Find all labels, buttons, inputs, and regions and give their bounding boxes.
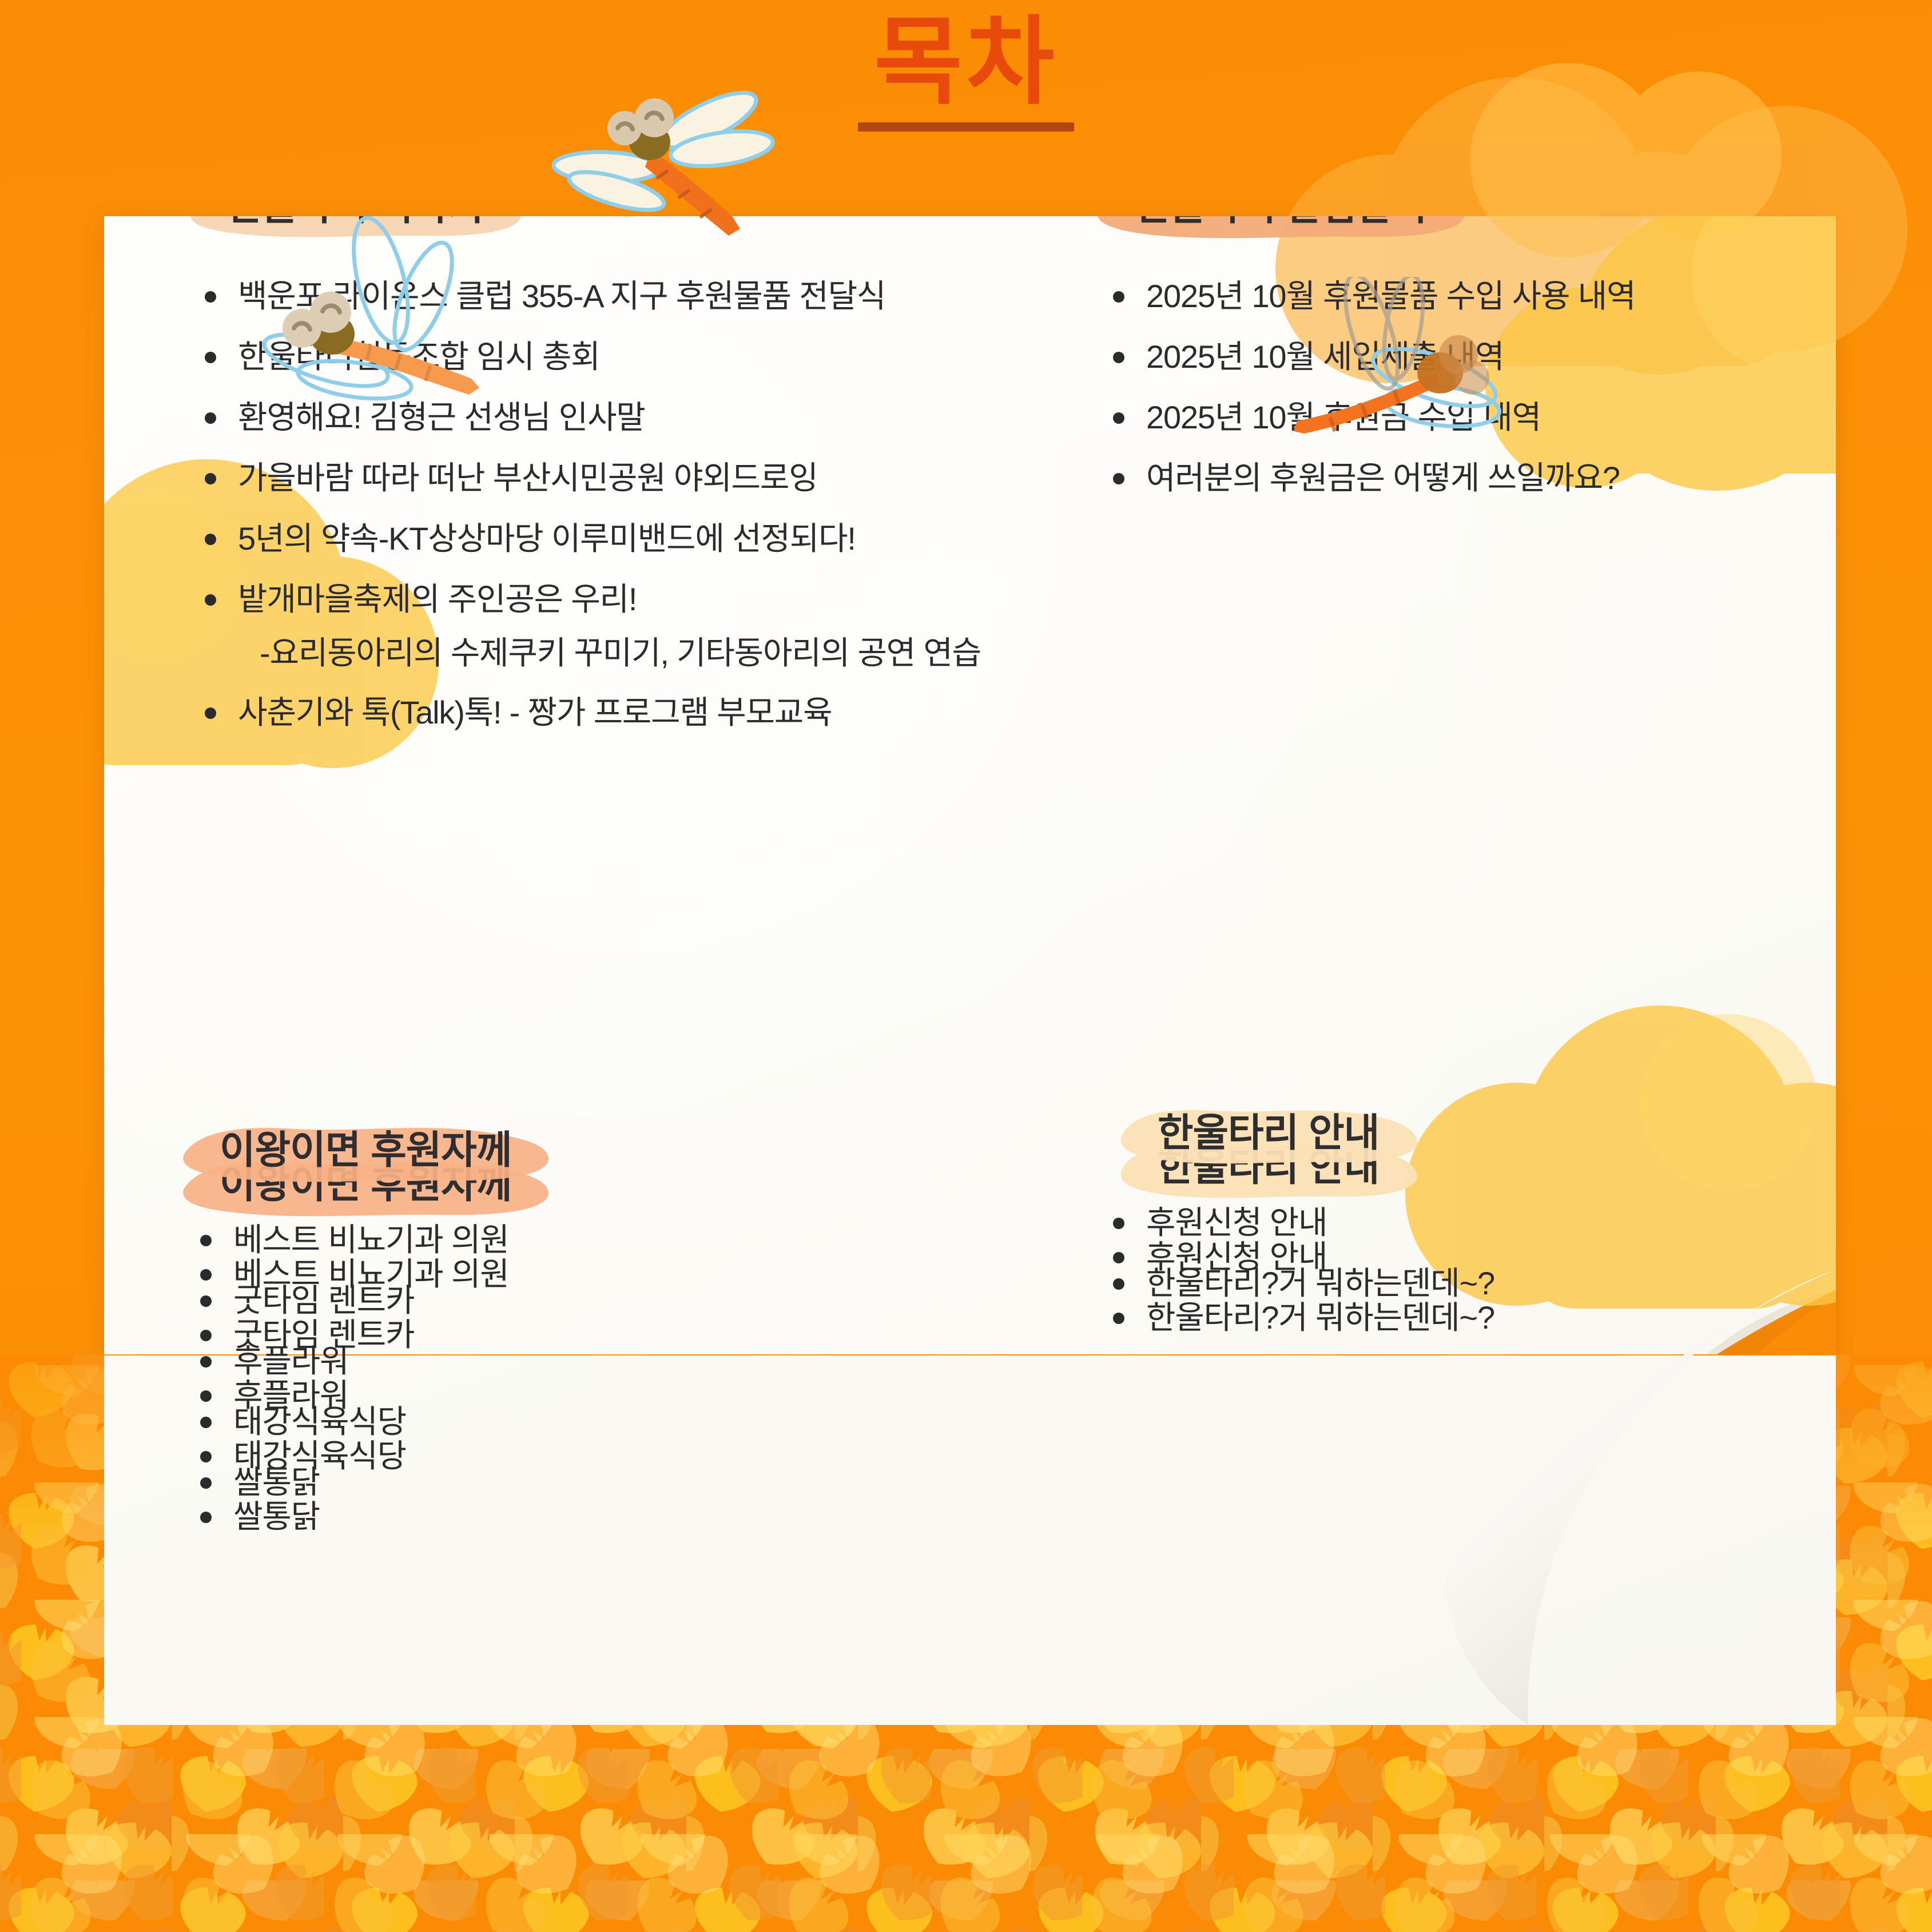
section-hanultari-story: 한울타리 이야기 백운포 라이온스 클럽 355-A 지구 후원물품 전달식 한…	[104, 216, 979, 754]
section-title: 이왕이면 후원자께	[220, 1129, 511, 1172]
list-item-label: 2025년 10월 후원물품 수입 사용 내역	[1146, 278, 1635, 314]
list-item-label: 사춘기와 톡(Talk)톡! - 짱가 프로그램 부모교육	[238, 694, 832, 730]
list-item[interactable]: 사춘기와 톡(Talk)톡! - 짱가 프로그램 부모교육	[200, 694, 979, 732]
bullet-dot	[205, 707, 216, 719]
list-item[interactable]: 가을바람 따라 떠난 부산시민공원 야외드로잉	[200, 459, 979, 497]
list-item-label: 후플라워	[233, 1343, 348, 1379]
bullet-dot	[1113, 1278, 1124, 1290]
list-item[interactable]: 태강식육식당	[196, 1403, 773, 1441]
section-title: 한울타리 살림살이	[1135, 216, 1426, 228]
bullet-dot	[1113, 352, 1124, 363]
newsletter-toc-page: 한울타리 이야기 백운포 라이온스 클럽 355-A 지구 후원물품 전달식 한…	[0, 0, 1932, 1932]
list-item-label: 가을바람 따라 떠난 부산시민공원 야외드로잉	[238, 460, 818, 496]
bullet-dot	[205, 412, 216, 424]
bullet-dot	[205, 534, 216, 545]
list-item-label: 태강식육식당	[233, 1404, 406, 1440]
list-item[interactable]: 베스트 비뇨기과 의원	[196, 1221, 773, 1259]
list-item-label: 여러분의 후원금은 어떻게 쓰일까요?	[1146, 460, 1620, 496]
title-underline	[858, 122, 1074, 132]
list-item-label: 2025년 10월 후원금 수입 내역	[1146, 399, 1541, 435]
title-block: 목차	[0, 11, 1932, 132]
list-item-label: 굿타임 렌트카	[233, 1282, 414, 1318]
list-item[interactable]: 5년의 약속-KT상상마당 이루미밴드에 선정되다!	[200, 520, 979, 558]
section-item-list-info-dup: 후원신청 안내 한울타리?거 뭐하는덴데~?	[1108, 1204, 1751, 1302]
bullet-dot	[1113, 412, 1124, 424]
list-item-label: 5년의 약속-KT상상마당 이루미밴드에 선정되다!	[238, 520, 856, 556]
list-item[interactable]: 2025년 10월 후원물품 수입 사용 내역	[1108, 277, 1831, 315]
list-item[interactable]: 여러분의 후원금은 어떻게 쓰일까요?	[1108, 459, 1831, 497]
list-item-label: 2025년 10월 세입세출 내역	[1146, 339, 1504, 375]
bullet-dot	[200, 1356, 212, 1367]
list-item[interactable]: 후플라워	[196, 1342, 773, 1380]
bullet-dot	[205, 291, 216, 303]
list-item[interactable]: 2025년 10월 세입세출 내역	[1108, 338, 1831, 376]
list-item-label: 쌀통닭	[233, 1464, 320, 1500]
section-title: 한울타리 이야기	[226, 216, 483, 228]
bullet-dot	[205, 594, 216, 606]
bullet-dot	[200, 1295, 212, 1307]
section-to-sponsors-overlay: 이왕이면 후원자께 베스트 비뇨기과 의원 굿타임 렌트카 후플라워 태강식육식…	[87, 1114, 773, 1524]
bullet-dot	[205, 352, 216, 363]
list-item-label: 베스트 비뇨기과 의원	[233, 1222, 509, 1258]
bullet-dot	[200, 1417, 212, 1428]
bullet-dot	[200, 1235, 212, 1246]
list-item[interactable]: 한울타리협동조합 임시 총회	[200, 338, 979, 376]
list-item-label: 한울타리?거 뭐하는덴데~?	[1146, 1265, 1494, 1301]
bullet-dot	[1113, 473, 1124, 484]
list-item-label: 후원신청 안내	[1146, 1204, 1327, 1241]
list-item[interactable]: 환영해요! 김형근 선생님 인사말	[200, 399, 979, 436]
bullet-dot	[200, 1477, 212, 1489]
list-sub-item-label: -요리동아리의 수제쿠키 꾸미기, 기타동아리의 공연 연습	[260, 635, 981, 671]
list-item[interactable]: 백운포 라이온스 클럽 355-A 지구 후원물품 전달식	[200, 277, 979, 315]
list-item-label: 백운포 라이온스 클럽 355-A 지구 후원물품 전달식	[238, 278, 885, 314]
section-hanultari-housekeeping: 한울타리 살림살이 2025년 10월 후원물품 수입 사용 내역 2025년 …	[1065, 216, 1831, 520]
list-sub-item[interactable]: -요리동아리의 수제쿠키 꾸미기, 기타동아리의 공연 연습	[200, 634, 979, 672]
list-item[interactable]: 쌀통닭	[196, 1464, 773, 1501]
section-heading-info-dup: 한울타리 안내	[1115, 1097, 1421, 1172]
bullet-dot	[1113, 1218, 1124, 1229]
list-item[interactable]: 후원신청 안내	[1108, 1204, 1751, 1242]
section-heading-sponsors-dup: 이왕이면 후원자께	[177, 1114, 554, 1189]
bullet-dot	[205, 473, 216, 484]
section-title: 한울타리 안내	[1158, 1112, 1379, 1155]
section-heading-story: 한울타리 이야기	[184, 216, 526, 245]
section-heading-housekeeping: 한울타리 살림살이	[1092, 216, 1469, 245]
list-item[interactable]: 2025년 10월 후원금 수입 내역	[1108, 399, 1831, 436]
section-hanultari-info-overlay: 한울타리 안내 후원신청 안내 한울타리?거 뭐하는덴데~?	[1065, 1097, 1751, 1325]
list-item-label: 한울타리협동조합 임시 총회	[238, 339, 600, 375]
section-item-list-story: 백운포 라이온스 클럽 355-A 지구 후원물품 전달식 한울타리협동조합 임…	[200, 277, 979, 732]
list-item-label: 밭개마을축제의 주인공은 우리!	[238, 581, 637, 617]
bullet-dot	[1113, 291, 1124, 303]
section-item-list-housekeeping: 2025년 10월 후원물품 수입 사용 내역 2025년 10월 세입세출 내…	[1108, 277, 1831, 497]
list-item-label: 환영해요! 김형근 선생님 인사말	[238, 399, 645, 435]
list-item[interactable]: 한울타리?거 뭐하는덴데~?	[1108, 1265, 1751, 1302]
list-item[interactable]: 굿타임 렌트카	[196, 1282, 773, 1319]
section-item-list-sponsors-dup: 베스트 비뇨기과 의원 굿타임 렌트카 후플라워 태강식육식당 쌀통닭	[196, 1221, 773, 1501]
list-item[interactable]: 밭개마을축제의 주인공은 우리!	[200, 581, 979, 618]
page-title: 목차	[874, 11, 1058, 112]
